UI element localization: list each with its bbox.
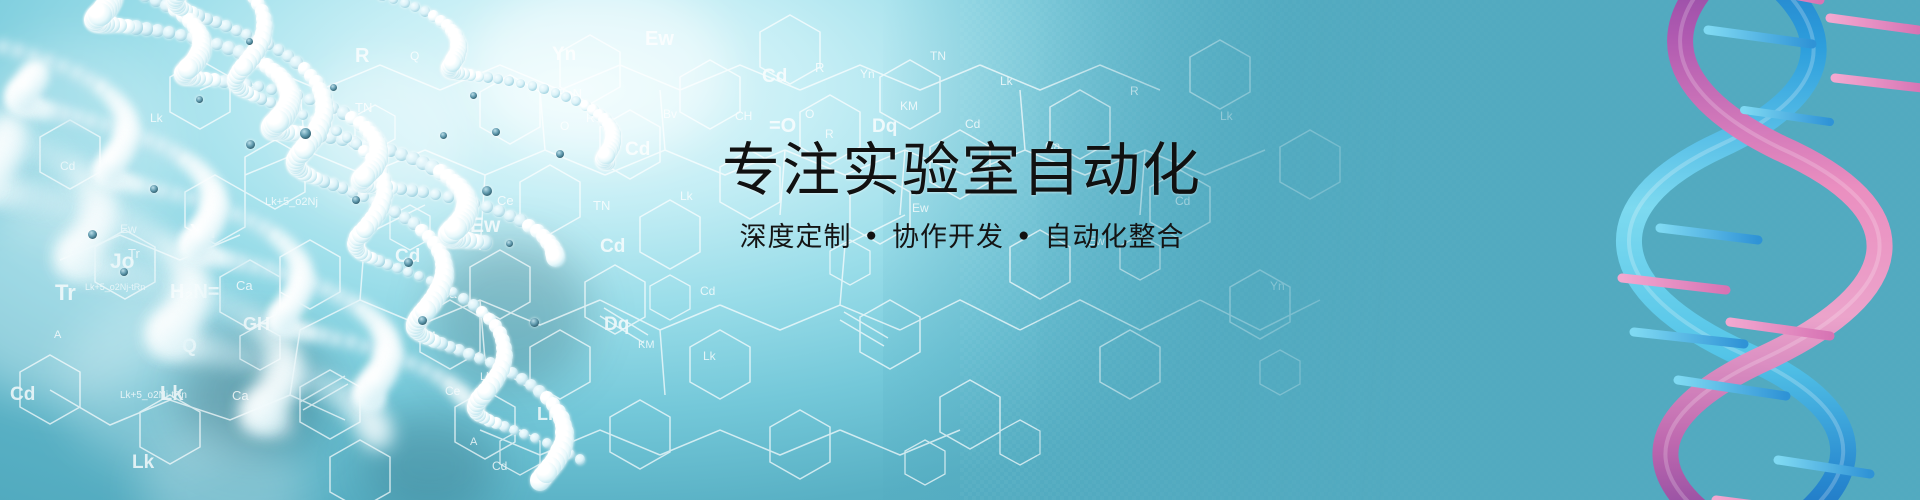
pearl-bead [187, 224, 213, 250]
pearl-bead [360, 341, 372, 353]
pearl-bead [266, 110, 289, 133]
pearl-accent-bead [88, 230, 97, 239]
pearl-bead [158, 311, 188, 341]
pearl-bead [206, 292, 221, 307]
pearl-accent-bead [506, 240, 513, 247]
bullet-separator-icon: ● [866, 226, 878, 245]
pearl-accent-bead [150, 185, 158, 193]
pearl-bead [186, 193, 198, 205]
pearl-bead [430, 189, 441, 200]
pearl-bead [331, 126, 341, 136]
pearl-bead [231, 25, 242, 36]
pearl-bead [400, 0, 410, 8]
pearl-bead [138, 271, 153, 286]
pearl-bead [163, 26, 176, 39]
pearl-accent-bead [196, 96, 203, 103]
pearl-bead [536, 462, 557, 483]
pearl-bead [155, 276, 170, 291]
pearl-accent-bead [352, 196, 360, 204]
pearl-bead [88, 3, 111, 26]
pearl-bead [414, 271, 424, 281]
pearl-bead [330, 333, 343, 346]
pearl-bead [363, 368, 389, 394]
pearl-bead [509, 425, 520, 436]
pearl-bead [444, 217, 467, 240]
pearl-bead [405, 357, 418, 370]
pearl-accent-bead [246, 140, 255, 149]
subtitle-item-2: 协作开发 [892, 221, 1004, 253]
pearl-accent-bead [482, 186, 492, 196]
color-dna-helix [1530, 0, 1920, 500]
pearl-bead [252, 389, 280, 417]
pearl-bead [58, 197, 74, 213]
hero-banner: Tr Jo Tr H₂N= Q Lk Lk+5_o2Nj-tRn Lk+5_o2… [0, 0, 1920, 500]
pearl-bead [561, 92, 571, 102]
pearl-bead [463, 348, 474, 359]
pearl-accent-bead [418, 316, 427, 325]
pearl-bead [251, 354, 267, 370]
pearl-bead [481, 201, 493, 213]
pearl-bead [12, 45, 24, 57]
pearl-bead [477, 382, 496, 401]
pearl-accent-bead [330, 84, 337, 91]
pearl-bead [551, 88, 561, 98]
pearl-accent-bead [530, 318, 539, 327]
pearl-bead [504, 76, 514, 86]
pearl-bead [356, 220, 375, 239]
pearl-bead [530, 433, 540, 443]
pearl-bead [263, 263, 277, 277]
pearl-bead [156, 185, 169, 198]
pearl-bead [365, 423, 391, 449]
pearl-bead [71, 111, 86, 126]
banner-subtitle: 深度定制 ● 协作开发 ● 自动化整合 [612, 221, 1312, 253]
pearl-bead [444, 54, 461, 71]
pearl-bead [474, 353, 485, 364]
pearl-bead [516, 79, 525, 88]
pearl-bead [377, 0, 386, 1]
pearl-accent-bead [300, 128, 311, 139]
pearl-bead [417, 186, 429, 198]
subtitle-item-1: 深度定制 [740, 221, 852, 253]
pearl-bead [493, 205, 505, 217]
banner-headline: 专注实验室自动化 [612, 140, 1312, 201]
pearl-bead [175, 29, 187, 41]
pearl-bead [100, 119, 114, 133]
pearl-bead [101, 150, 124, 173]
pearl-bead [493, 74, 503, 84]
pearl-bead [575, 454, 586, 465]
pearl-bead [234, 58, 253, 77]
pearl-bead [354, 166, 375, 187]
pearl-accent-bead [440, 132, 447, 139]
pearl-bead [519, 429, 529, 439]
pearl-accent-bead [404, 258, 413, 267]
pearl-bead [249, 260, 263, 274]
pearl-bead [298, 110, 308, 120]
pearl-bead [345, 336, 358, 349]
pearl-bead [392, 263, 403, 274]
pearl-bead [406, 184, 418, 196]
pearl-bead [57, 61, 70, 74]
pearl-bead [539, 84, 548, 93]
pearl-bead [231, 209, 244, 222]
pearl-bead [277, 268, 291, 282]
pearl-bead [0, 41, 10, 54]
pearl-bead [275, 298, 298, 321]
pearl-bead [546, 248, 565, 267]
pearl-accent-bead [246, 38, 253, 45]
pearl-bead [236, 350, 253, 367]
pearl-bead [29, 141, 45, 157]
pearl-bead [294, 138, 315, 159]
bullet-separator-icon: ● [1018, 226, 1030, 245]
pearl-bead [403, 267, 413, 277]
pearl-accent-bead [120, 268, 128, 276]
banner-text-block: 专注实验室自动化 深度定制 ● 协作开发 ● 自动化整合 [612, 140, 1312, 254]
pearl-accent-bead [556, 150, 564, 158]
pearl-bead [13, 75, 39, 101]
pearl-accent-bead [470, 92, 477, 99]
pearl-bead [171, 189, 184, 202]
pearl-bead [410, 2, 420, 12]
pearl-bead [389, 0, 398, 4]
pearl-bead [528, 81, 537, 90]
pearl-accent-bead [492, 128, 500, 136]
pearl-bead [483, 72, 493, 82]
pearl-bead [85, 115, 99, 129]
subtitle-item-3: 自动化整合 [1044, 221, 1184, 253]
